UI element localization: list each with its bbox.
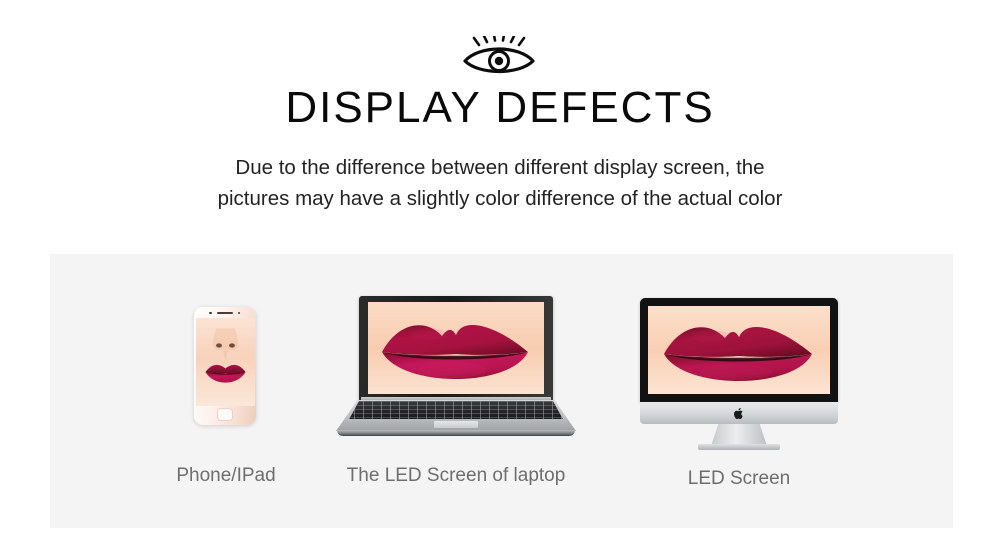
caption-laptop: The LED Screen of laptop [336,465,576,487]
phone-earpiece-icon [217,312,233,314]
laptop-screen [368,302,544,394]
laptop-front-edge [337,430,575,436]
phone-front-camera-icon [209,312,212,315]
subtitle: Due to the difference between different … [0,152,1000,214]
device-monitor [640,298,838,446]
caption-phone: Phone/IPad [166,465,286,487]
laptop-base [336,400,576,436]
monitor-screen [648,306,830,394]
apple-logo-icon [734,407,745,420]
phone-screen [196,318,255,406]
page-title: DISPLAY DEFECTS [0,84,1000,132]
monitor-stand-foot [698,444,780,450]
display-defects-banner: DISPLAY DEFECTS Due to the difference be… [0,0,1000,560]
monitor-chin [640,402,838,424]
monitor-bezel [640,298,838,402]
phone-top-bar [194,307,256,318]
phone-home-button[interactable] [217,408,233,421]
eye-icon [457,36,543,76]
device-laptop [336,296,576,436]
laptop-keys [336,401,576,419]
laptop-trackpad[interactable] [434,421,478,428]
subtitle-line-2: pictures may have a slightly color diffe… [0,183,1000,214]
device-phone [194,307,256,425]
caption-monitor: LED Screen [640,468,838,490]
laptop-keyboard[interactable] [336,401,576,419]
monitor-stand-neck [711,424,767,446]
subtitle-line-1: Due to the difference between different … [0,152,1000,183]
phone-sensor-icon [238,312,240,314]
phone-body [194,307,256,425]
laptop-lid [359,296,553,400]
